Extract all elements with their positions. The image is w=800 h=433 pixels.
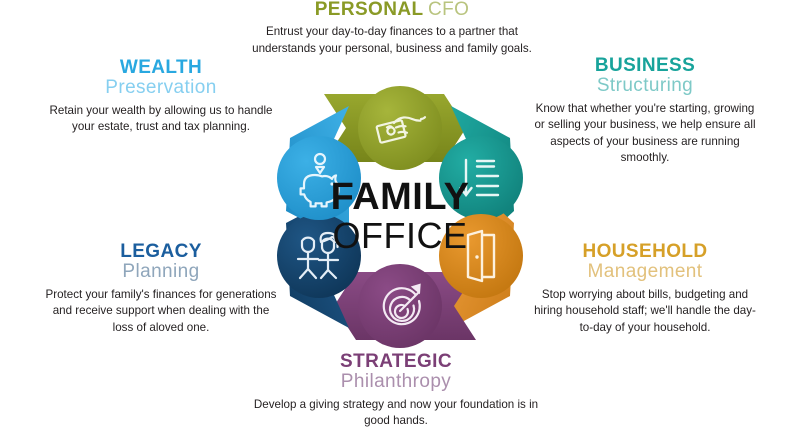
heading-bold: PERSONAL: [315, 0, 424, 20]
family-office-cycle-diagram: [238, 66, 562, 368]
section-body-wealth-preservation: Retain your wealth by allowing us to han…: [42, 103, 280, 136]
section-legacy-planning: LEGACY Planning Protect your family's fi…: [42, 242, 280, 336]
badge-legacy-planning[interactable]: [277, 214, 361, 298]
section-heading-legacy-planning: LEGACY Planning: [42, 242, 280, 282]
section-household-management: HOUSEHOLD Management Stop worrying about…: [530, 242, 760, 336]
section-body-strategic-philanthropy: Develop a giving strategy and now your f…: [246, 397, 546, 430]
badge-wealth-preservation[interactable]: [277, 136, 361, 220]
badge-business-structuring[interactable]: [439, 136, 523, 220]
section-heading-business-structuring: BUSINESS Structuring: [530, 56, 760, 96]
section-heading-strategic-philanthropy: STRATEGIC Philanthropy: [246, 352, 546, 392]
heading-light: Preservation: [42, 78, 280, 97]
heading-bold: HOUSEHOLD: [583, 241, 708, 262]
heading-light: Planning: [42, 262, 280, 281]
section-personal-cfo: PERSONAL CFO Entrust your day-to-day fin…: [238, 0, 546, 57]
section-body-personal-cfo: Entrust your day-to-day finances to a pa…: [238, 24, 546, 57]
badge-household-management[interactable]: [439, 214, 523, 298]
section-heading-household-management: HOUSEHOLD Management: [530, 242, 760, 282]
section-body-household-management: Stop worrying about bills, budgeting and…: [530, 287, 760, 336]
heading-light: Philanthropy: [246, 372, 546, 391]
heading-light: Management: [530, 262, 760, 281]
badge-strategic-philanthropy[interactable]: [358, 264, 442, 348]
section-strategic-philanthropy: STRATEGIC Philanthropy Develop a giving …: [246, 352, 546, 430]
section-heading-wealth-preservation: WEALTH Preservation: [42, 58, 280, 98]
heading-bold: WEALTH: [120, 57, 202, 78]
section-heading-personal-cfo: PERSONAL CFO: [238, 0, 546, 19]
heading-bold: LEGACY: [120, 241, 202, 262]
section-body-legacy-planning: Protect your family's finances for gener…: [42, 287, 280, 336]
infographic-canvas: FAMILY OFFICE PERSONAL CFO Entrust your …: [0, 0, 800, 433]
section-wealth-preservation: WEALTH Preservation Retain your wealth b…: [42, 58, 280, 136]
section-body-business-structuring: Know that whether you're starting, growi…: [530, 101, 760, 167]
heading-light: Structuring: [530, 76, 760, 95]
heading-light: CFO: [428, 0, 469, 20]
badge-personal-cfo[interactable]: [358, 86, 442, 170]
heading-bold: BUSINESS: [595, 55, 695, 76]
section-business-structuring: BUSINESS Structuring Know that whether y…: [530, 56, 760, 167]
heading-bold: STRATEGIC: [340, 351, 452, 372]
